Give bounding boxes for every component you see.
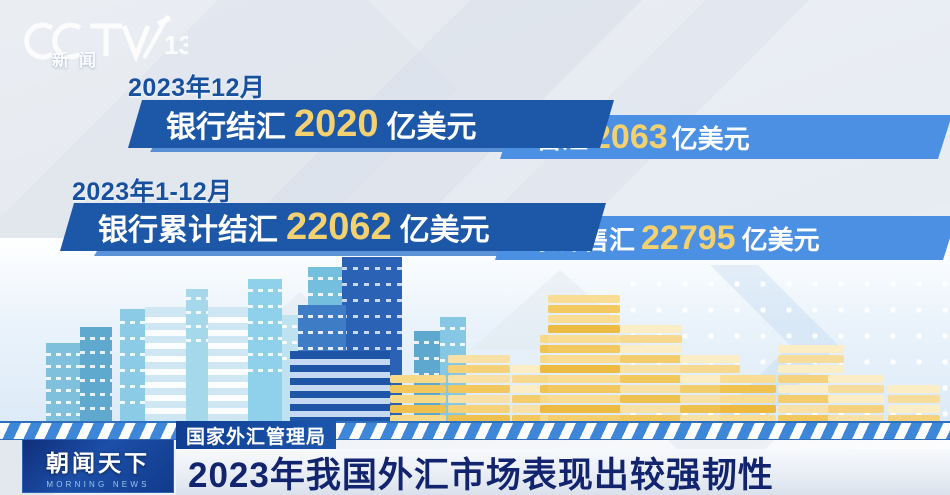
cctv13-logo-sub: 新闻 [52,46,106,71]
coin-stacks-illustration [390,260,950,435]
building [186,289,208,435]
decorative-stripe-band [0,421,950,440]
coin-stack [620,325,682,435]
program-logo-en: MORNING NEWS [46,480,149,489]
svg-text:13: 13 [164,30,188,60]
stat-banner-settle-month: 银行结汇 2020 亿美元 [128,100,614,148]
program-logo: 朝闻天下 MORNING NEWS [22,439,174,493]
coin-stack [548,295,620,435]
source-tag-label: 国家外汇管理局 [186,422,326,449]
headline-text: 2023年我国外汇市场表现出较强韧性 [188,447,774,495]
period-label-year: 2023年1-12月 [72,172,233,208]
stat-banner-settle-cumulative: 银行累计结汇 22062 亿美元 [60,203,606,251]
program-logo-cn: 朝闻天下 [46,444,150,478]
building [248,279,282,435]
source-tag: 国家外汇管理局 [176,421,336,449]
broadcast-screen: 13 新闻 2023年12月 售汇 2063 亿美元 银行结汇 2020 亿美元… [0,0,950,495]
period-label-month: 2023年12月 [128,68,265,104]
building [80,327,112,435]
headline-bar: 2023年我国外汇市场表现出较强韧性 [176,449,950,495]
